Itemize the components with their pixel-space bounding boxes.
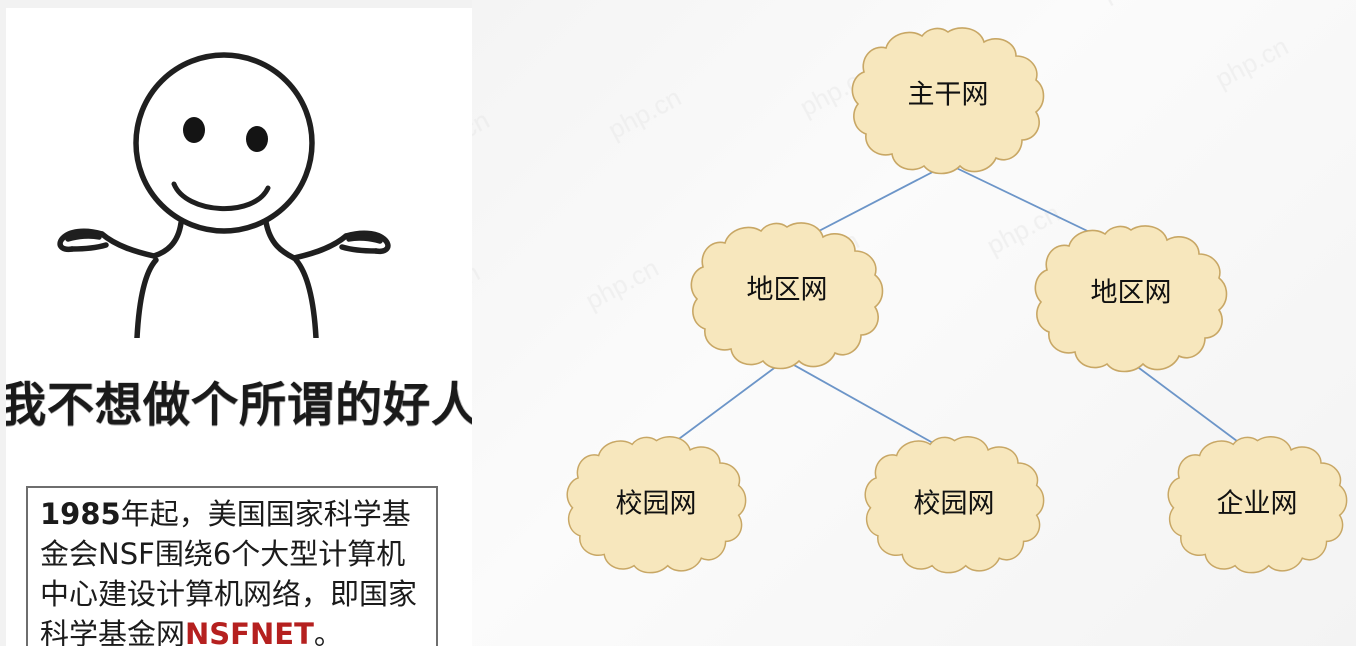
text-card-paragraph: 1985年起，美国国家科学基金会NSF围绕6个大型计算机中心建设计算机网络，即国… — [40, 494, 426, 646]
text-line2-b: 围绕 — [155, 537, 213, 571]
svg-text:php.cn: php.cn — [472, 257, 485, 320]
year-number: 1985 — [40, 497, 121, 531]
cloud-node-campus-2[interactable]: 校园网 — [865, 437, 1043, 573]
cloud-label-regional-2: 地区网 — [1091, 278, 1172, 309]
cloud-node-campus-1[interactable]: 校园网 — [567, 437, 745, 573]
cloud-node-enterprise[interactable]: 企业网 — [1168, 437, 1346, 573]
meme-panel: 我不想做个所谓的好人 1985年起，美国国家科学基金会NSF围绕6个大型计算机中… — [6, 8, 472, 646]
svg-text:php.cn: php.cn — [603, 82, 686, 145]
network-hierarchy-diagram: php.cn php.cn php.cn php.cn php.cn php.c… — [472, 0, 1356, 646]
text-line2-c: 个大型计算 — [231, 537, 376, 571]
svg-text:php.cn: php.cn — [580, 252, 663, 315]
edge-regional-1-campus-1 — [664, 360, 785, 450]
cloud-node-regional-2[interactable]: 地区网 — [1035, 226, 1226, 372]
text-line2-a: 金会 — [40, 537, 98, 571]
cloud-label-campus-1: 校园网 — [616, 489, 697, 520]
cloud-label-campus-2: 校园网 — [914, 489, 995, 520]
screenshot-root: 我不想做个所谓的好人 1985年起，美国国家科学基金会NSF围绕6个大型计算机中… — [0, 0, 1356, 646]
cloud-node-backbone[interactable]: 主干网 — [852, 28, 1043, 174]
nsfnet-acronym: NSFNET — [185, 617, 314, 646]
cloud-node-regional-1[interactable]: 地区网 — [691, 223, 882, 369]
nsf-acronym: NSF — [98, 537, 155, 571]
count-six: 6 — [213, 537, 231, 571]
cloud-label-enterprise: 企业网 — [1217, 489, 1298, 520]
explanatory-text-card: 1985年起，美国国家科学基金会NSF围绕6个大型计算机中心建设计算机网络，即国… — [26, 486, 438, 646]
shrugging-stick-figure — [6, 8, 472, 338]
text-period: 。 — [314, 617, 343, 646]
text-line1-rest: 年起，美国国家科学基 — [121, 497, 411, 531]
cloud-label-backbone: 主干网 — [908, 80, 989, 111]
edge-regional-2-enterprise — [1131, 362, 1249, 450]
svg-text:php.cn: php.cn — [1210, 31, 1293, 94]
svg-text:php.cn: php.cn — [1096, 0, 1179, 7]
svg-text:php.cn: php.cn — [472, 104, 494, 167]
meme-caption: 我不想做个所谓的好人 — [6, 353, 472, 448]
edge-regional-1-campus-2 — [785, 360, 942, 448]
cloud-label-regional-1: 地区网 — [747, 275, 828, 306]
left-eye — [183, 117, 205, 143]
right-eye — [246, 126, 268, 152]
